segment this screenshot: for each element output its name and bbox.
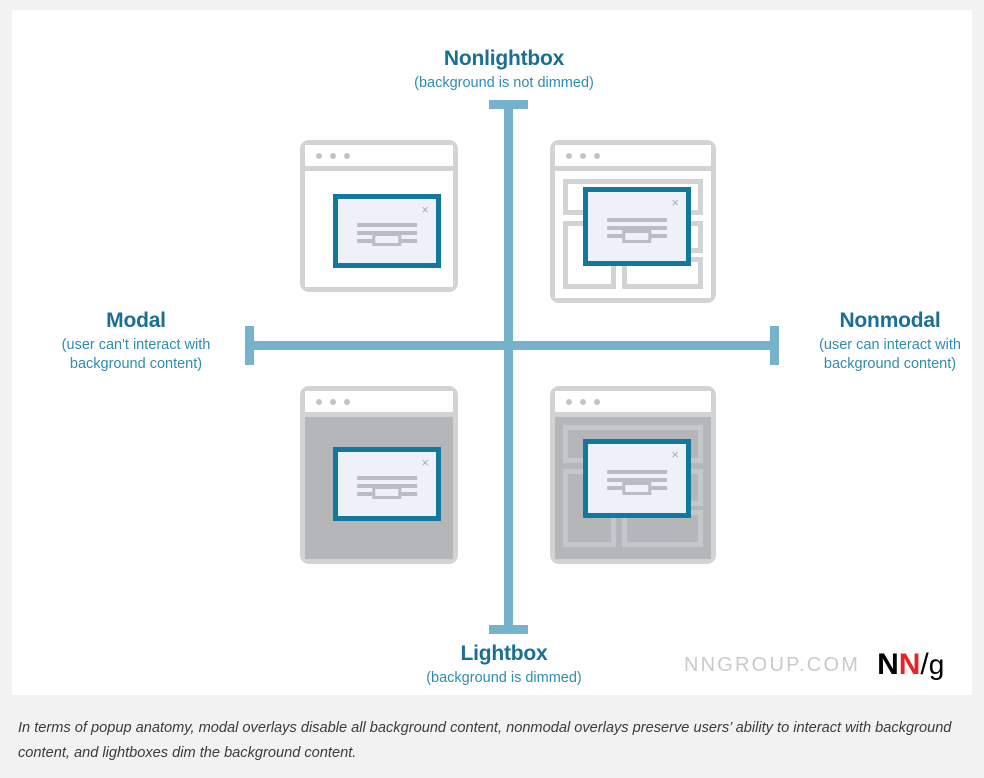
nng-n-black: N	[877, 650, 899, 680]
axis-label-title: Modal	[30, 308, 242, 334]
axis-label-nonlightbox: Nonlightbox (background is not dimmed)	[354, 46, 654, 93]
axis-label-subtitle: (background is dimmed)	[354, 669, 654, 688]
close-icon[interactable]: ×	[421, 456, 429, 469]
axis-cap-top	[489, 100, 528, 109]
nng-n-red: N	[899, 650, 921, 680]
vertical-axis	[504, 106, 513, 632]
window-dot-icon	[580, 153, 586, 159]
dialog-text-line	[607, 470, 667, 474]
overlay-dialog[interactable]: ×	[583, 439, 691, 518]
dialog-text-line	[357, 223, 417, 227]
quadrant-nonmodal-nonlightbox: ×	[550, 140, 716, 303]
close-icon[interactable]: ×	[671, 448, 679, 461]
axis-label-lightbox: Lightbox (background is dimmed)	[354, 641, 654, 688]
overlay-dialog[interactable]: ×	[583, 187, 691, 266]
axis-cap-right	[770, 326, 779, 365]
axis-cap-bottom	[489, 625, 528, 634]
window-dot-icon	[316, 153, 322, 159]
diagram-page: Nonlightbox (background is not dimmed) L…	[0, 0, 984, 778]
window-dot-icon	[330, 153, 336, 159]
window-dot-icon	[594, 399, 600, 405]
axis-label-title: Nonmodal	[784, 308, 984, 334]
axis-label-modal: Modal (user can't interact with backgrou…	[30, 308, 242, 374]
browser-titlebar	[305, 391, 453, 417]
window-dot-icon	[344, 153, 350, 159]
dialog-text-line	[357, 476, 417, 480]
window-dot-icon	[566, 153, 572, 159]
axis-label-title: Nonlightbox	[354, 46, 654, 72]
close-icon[interactable]: ×	[671, 196, 679, 209]
quadrant-modal-nonlightbox: ×	[300, 140, 458, 292]
window-dot-icon	[594, 153, 600, 159]
browser-titlebar	[555, 145, 711, 171]
quadrant-modal-lightbox: ×	[300, 386, 458, 564]
window-dot-icon	[330, 399, 336, 405]
axis-label-subtitle: (user can't interact with background con…	[30, 336, 242, 374]
window-dot-icon	[566, 399, 572, 405]
nng-slash: /	[920, 650, 928, 680]
window-dot-icon	[344, 399, 350, 405]
brand-domain: NNGROUP.COM	[684, 654, 860, 677]
overlay-dialog[interactable]: ×	[333, 447, 441, 521]
dialog-button[interactable]	[622, 230, 651, 243]
quadrant-nonmodal-lightbox: ×	[550, 386, 716, 564]
browser-titlebar	[555, 391, 711, 417]
figure-caption: In terms of popup anatomy, modal overlay…	[18, 716, 958, 766]
horizontal-axis	[247, 341, 777, 350]
diagram-card: Nonlightbox (background is not dimmed) L…	[12, 10, 972, 695]
window-dot-icon	[580, 399, 586, 405]
nng-g: g	[929, 651, 945, 679]
dialog-button[interactable]	[372, 233, 401, 246]
axis-label-title: Lightbox	[354, 641, 654, 667]
nng-logo-icon: NN/g	[877, 650, 944, 680]
dialog-button[interactable]	[622, 482, 651, 495]
close-icon[interactable]: ×	[421, 203, 429, 216]
overlay-dialog[interactable]: ×	[333, 194, 441, 268]
axis-label-subtitle: (background is not dimmed)	[354, 74, 654, 93]
axis-cap-left	[245, 326, 254, 365]
browser-titlebar	[305, 145, 453, 171]
brand-logo: NNGROUP.COM NN/g	[684, 650, 944, 680]
dialog-text-line	[607, 218, 667, 222]
axis-label-subtitle: (user can interact with background conte…	[784, 336, 984, 374]
axis-label-nonmodal: Nonmodal (user can interact with backgro…	[784, 308, 984, 374]
window-dot-icon	[316, 399, 322, 405]
dialog-button[interactable]	[372, 486, 401, 499]
